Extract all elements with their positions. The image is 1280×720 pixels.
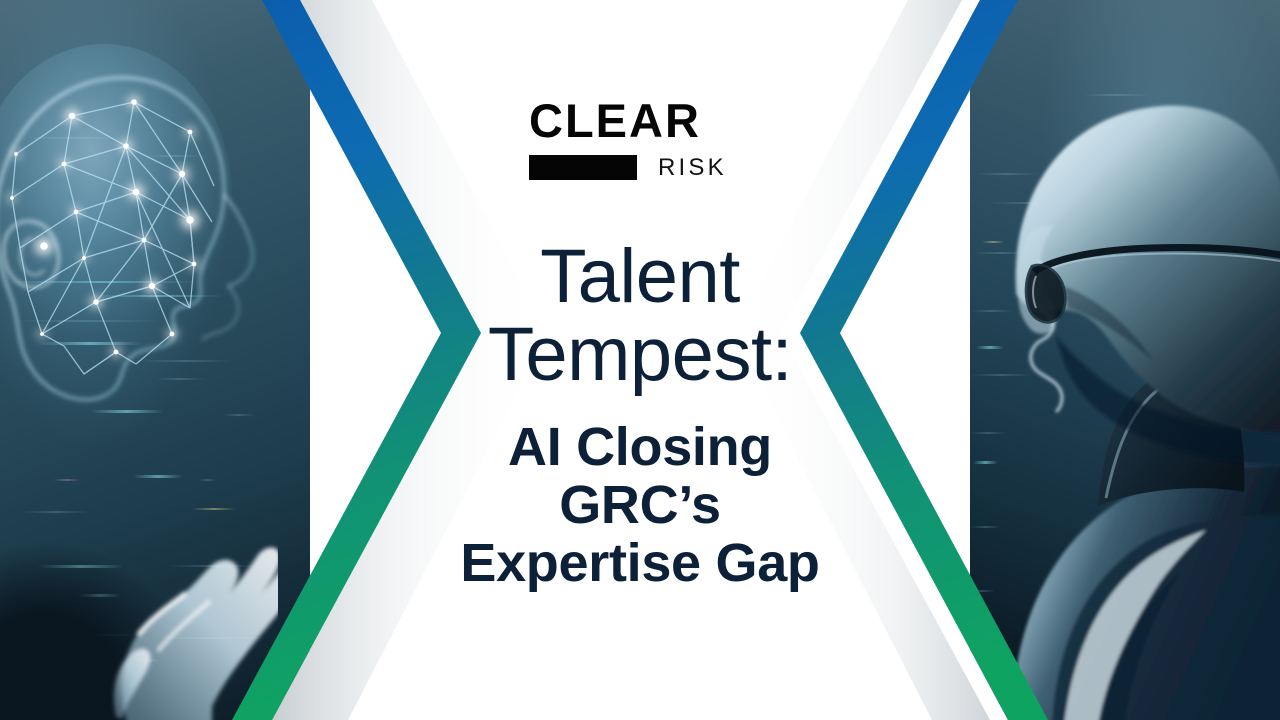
- headline-line-2: Tempest:: [430, 316, 850, 394]
- clear-risk-logo[interactable]: CLEAR RISK: [529, 98, 751, 180]
- centre-content: CLEAR RISK Talent Tempest: AI Closing GR…: [0, 0, 1280, 720]
- slide-canvas: CLEAR RISK Talent Tempest: AI Closing GR…: [0, 0, 1280, 720]
- logo-subword: RISK: [658, 156, 727, 180]
- logo-wordmark: CLEAR: [529, 98, 701, 144]
- headline-block: Talent Tempest: AI Closing GRC’s Experti…: [430, 238, 850, 592]
- subheadline-line-1: AI Closing: [430, 419, 850, 477]
- logo-second-row: RISK: [529, 155, 751, 180]
- subheadline-line-2: GRC’s: [430, 477, 850, 535]
- subheadline-line-3: Expertise Gap: [430, 535, 850, 593]
- logo-bar-mark: [529, 155, 637, 180]
- headline-line-1: Talent: [430, 238, 850, 316]
